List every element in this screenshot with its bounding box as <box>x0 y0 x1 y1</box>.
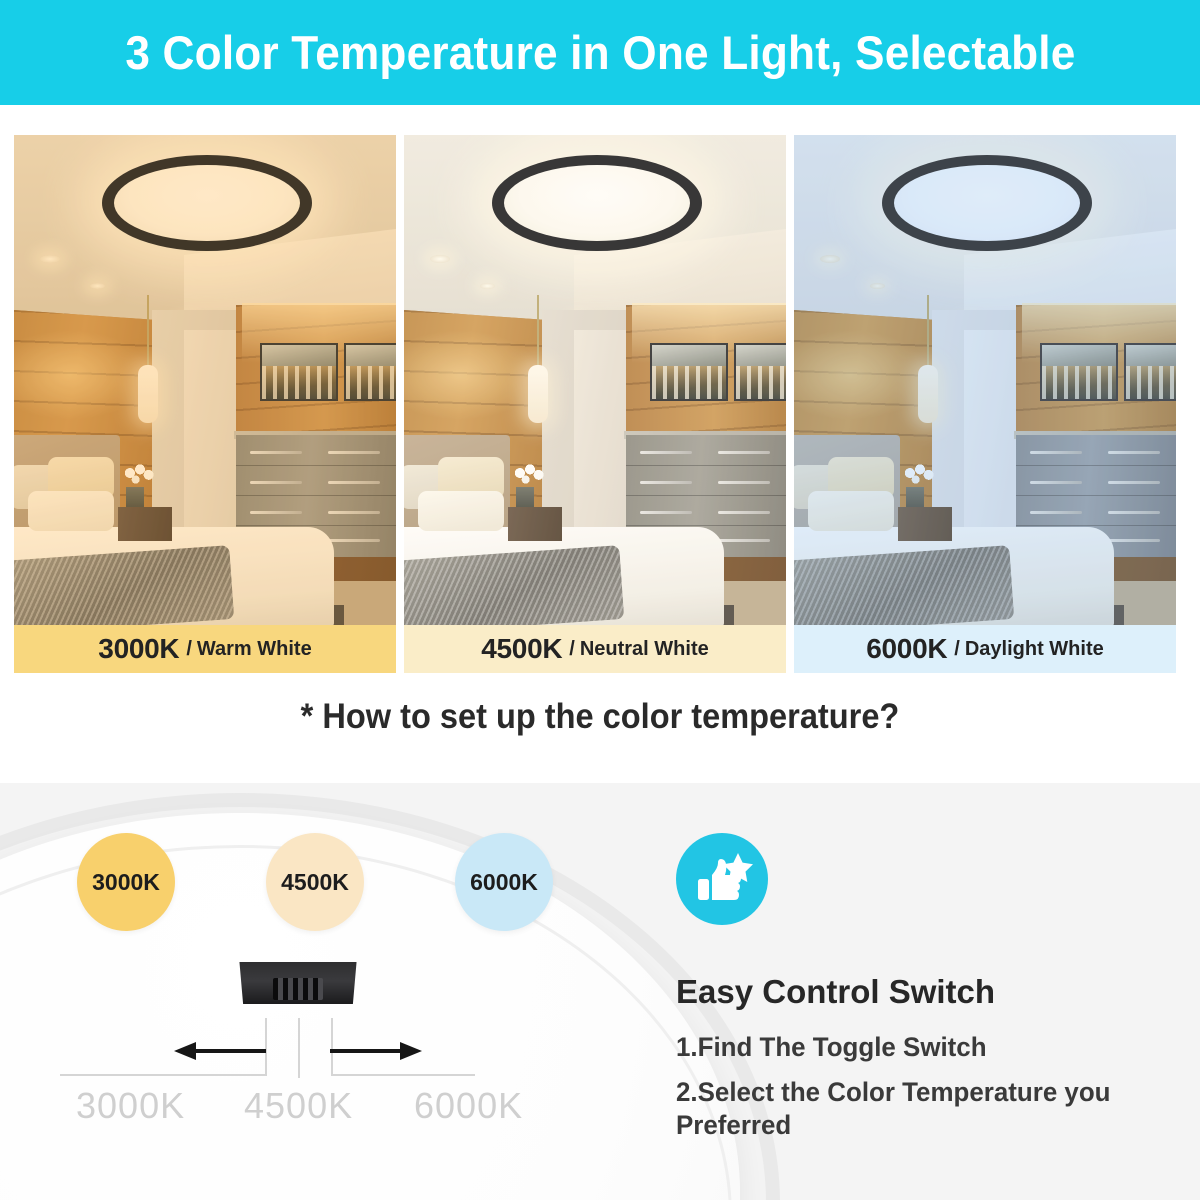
easy-control-switch-title: Easy Control Switch <box>676 973 995 1011</box>
color-temp-panel-4500k[interactable]: 4500K / Neutral White <box>404 135 786 673</box>
label-bar-6000k: 6000K / Daylight White <box>794 625 1176 673</box>
kelvin-value: 3000K <box>98 633 179 665</box>
neutral-color-tint <box>404 135 786 625</box>
bubble-4500k[interactable]: 4500K <box>266 833 364 931</box>
fixture-label-3000k: 3000K <box>76 1085 185 1127</box>
bedroom-scene-daylight <box>794 135 1176 625</box>
label-separator: / <box>186 638 192 661</box>
label-separator: / <box>954 638 960 661</box>
bubble-3000k[interactable]: 3000K <box>77 833 175 931</box>
warm-color-tint <box>14 135 396 625</box>
bubble-6000k[interactable]: 6000K <box>455 833 553 931</box>
comparison-section: 3000K / Warm White <box>0 105 1200 783</box>
howto-heading: * How to set up the color temperature? <box>42 697 1158 737</box>
fixture-label-4500k: 4500K <box>244 1085 353 1127</box>
page-title: 3 Color Temperature in One Light, Select… <box>125 25 1075 80</box>
instruction-step-2: 2.Select the Color Temperature you Prefe… <box>676 1076 1166 1142</box>
bedroom-scene-neutral <box>404 135 786 625</box>
panel-group: 3000K / Warm White <box>14 135 1186 673</box>
toggle-switch-grip[interactable] <box>273 978 323 1000</box>
color-name: Warm White <box>197 638 312 661</box>
daylight-color-tint <box>794 135 1176 625</box>
color-temp-panel-3000k[interactable]: 3000K / Warm White <box>14 135 396 673</box>
color-name: Neutral White <box>580 638 709 661</box>
bedroom-scene-warm <box>14 135 396 625</box>
kelvin-value: 6000K <box>866 633 947 665</box>
instruction-step-1: 1.Find The Toggle Switch <box>676 1031 1166 1064</box>
fixture-label-6000k: 6000K <box>414 1085 523 1127</box>
label-bar-3000k: 3000K / Warm White <box>14 625 396 673</box>
label-separator: / <box>569 638 575 661</box>
color-name: Daylight White <box>965 638 1104 661</box>
header-banner: 3 Color Temperature in One Light, Select… <box>0 0 1200 105</box>
thumbs-up-star-icon <box>676 833 768 925</box>
color-temp-panel-6000k[interactable]: 6000K / Daylight White <box>794 135 1176 673</box>
label-bar-4500k: 4500K / Neutral White <box>404 625 786 673</box>
kelvin-value: 4500K <box>481 633 562 665</box>
